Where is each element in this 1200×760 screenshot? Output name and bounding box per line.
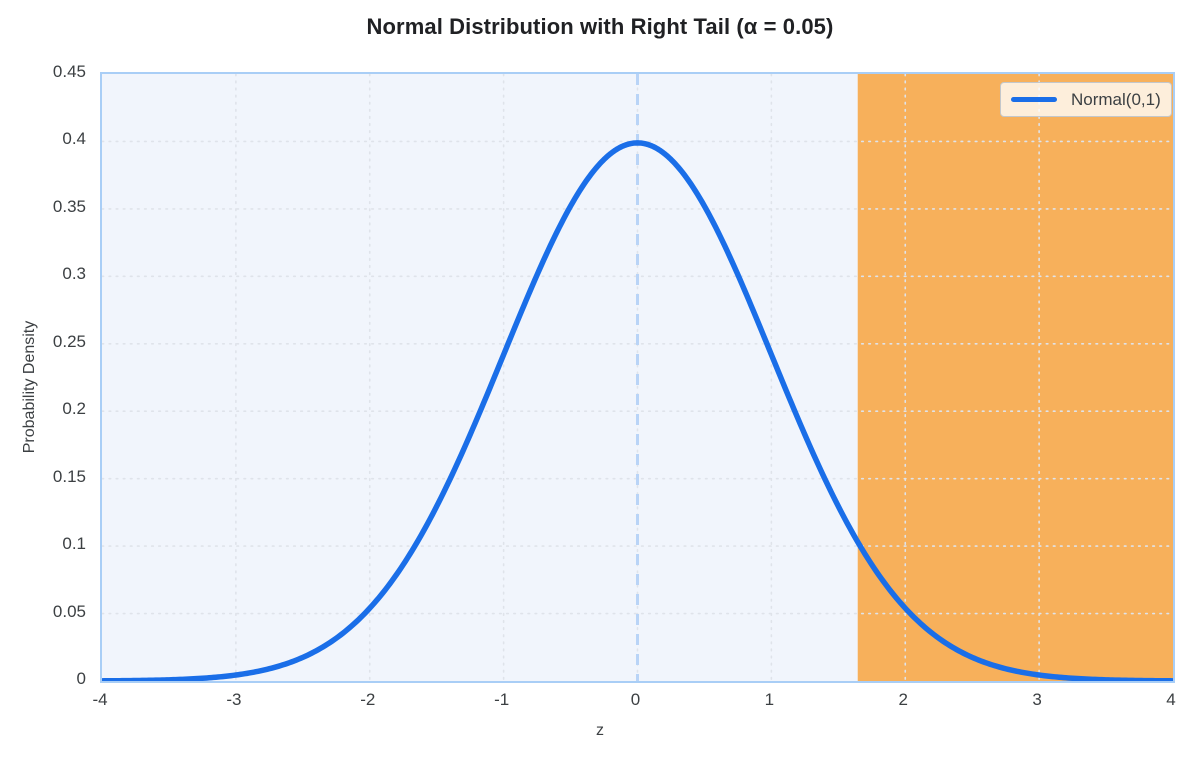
x-tick-label: 0	[631, 690, 640, 710]
x-tick-label: -1	[494, 690, 509, 710]
y-tick-label: 0.2	[0, 399, 86, 419]
y-tick-label: 0	[0, 669, 86, 689]
plot-canvas	[102, 74, 1173, 681]
chart-figure: Normal Distribution with Right Tail (α =…	[0, 0, 1200, 760]
y-axis-label: Probability Density	[21, 237, 39, 537]
y-tick-label: 0.15	[0, 467, 86, 487]
x-tick-label: 1	[765, 690, 774, 710]
legend-label-normal: Normal(0,1)	[1071, 90, 1161, 110]
y-tick-label: 0.35	[0, 197, 86, 217]
x-tick-label: -4	[92, 690, 107, 710]
x-tick-label: 4	[1166, 690, 1175, 710]
x-tick-label: -2	[360, 690, 375, 710]
x-tick-label: 3	[1032, 690, 1041, 710]
x-tick-label: -3	[226, 690, 241, 710]
y-tick-label: 0.05	[0, 602, 86, 622]
y-tick-label: 0.3	[0, 264, 86, 284]
y-tick-label: 0.45	[0, 62, 86, 82]
x-tick-label: 2	[899, 690, 908, 710]
y-tick-label: 0.4	[0, 129, 86, 149]
y-tick-label: 0.25	[0, 332, 86, 352]
plot-area	[100, 72, 1175, 683]
x-axis-label: z	[0, 722, 1200, 740]
legend-swatch-normal	[1011, 97, 1057, 102]
right-tail-region	[858, 74, 1173, 681]
page-title: Normal Distribution with Right Tail (α =…	[0, 14, 1200, 40]
legend: Normal(0,1)	[1000, 82, 1172, 117]
y-tick-label: 0.1	[0, 534, 86, 554]
